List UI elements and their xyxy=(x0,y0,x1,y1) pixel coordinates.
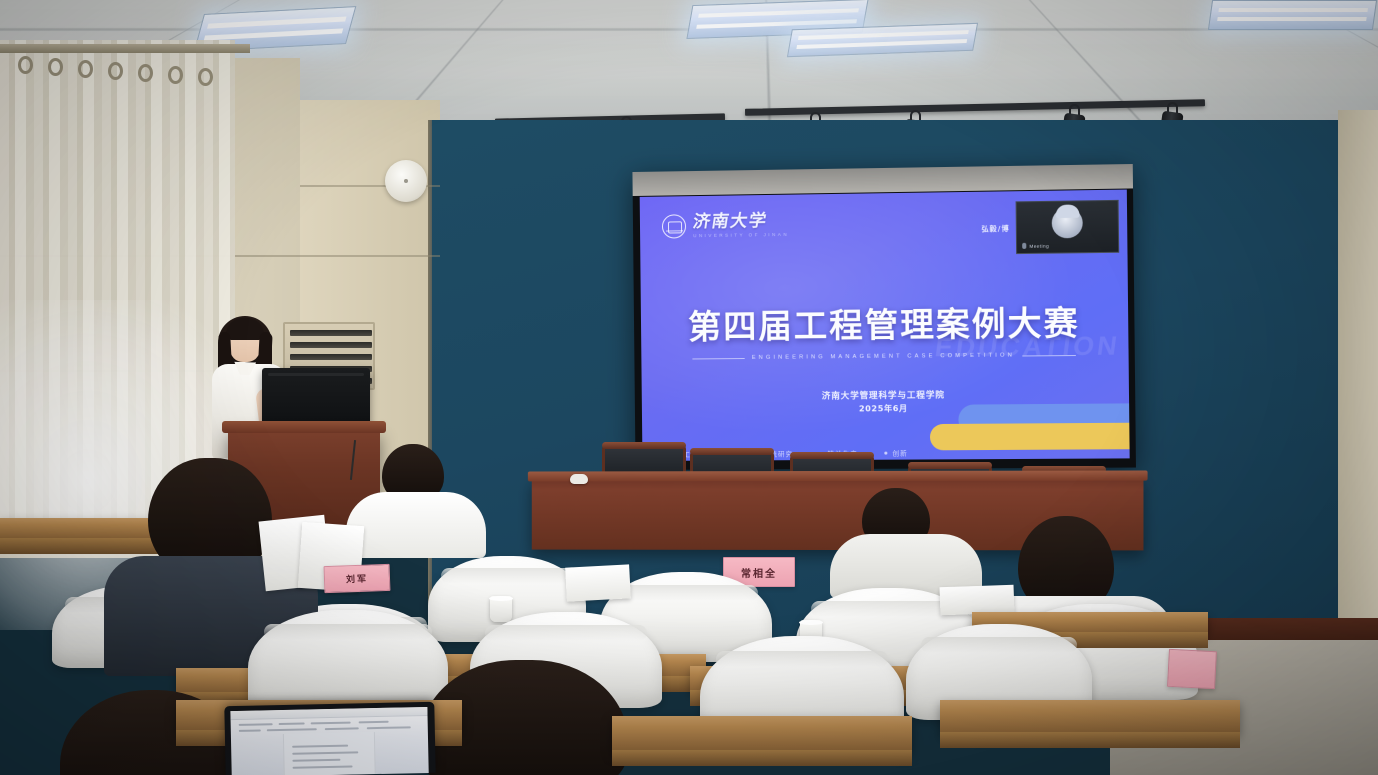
paper-cup xyxy=(490,596,512,622)
video-call-name-row: Meeting xyxy=(1022,243,1049,249)
judges-table-surface xyxy=(528,470,1148,481)
university-logo: 济南大学 UNIVERSITY OF JINAN xyxy=(662,213,789,239)
laptop-screen xyxy=(230,707,428,775)
name-placard: 刘军 xyxy=(324,564,391,593)
paper-stack xyxy=(940,585,1015,616)
seat-cover xyxy=(248,610,448,710)
avatar xyxy=(1052,208,1083,239)
microphone-icon xyxy=(1022,243,1026,249)
slide-title-block: 第四届工程管理案例大赛 ENGINEERING MANAGEMENT CASE … xyxy=(641,295,1129,361)
projection-screen: 济南大学 UNIVERSITY OF JINAN 弘毅/博 Meeting ED… xyxy=(632,164,1136,470)
university-seal-icon xyxy=(662,215,686,239)
name-placard-text: 常相全 xyxy=(741,565,777,580)
presenter-hair-front xyxy=(226,318,264,340)
laptop-document-pane xyxy=(283,732,376,775)
podium-top-surface xyxy=(222,421,386,433)
laptop-app-toolbar xyxy=(230,707,427,720)
video-call-window[interactable]: Meeting xyxy=(1016,200,1120,254)
university-name-cn: 济南大学 xyxy=(692,213,790,231)
slide-title-cn: 第四届工程管理案例大赛 xyxy=(641,295,1129,348)
laptop[interactable] xyxy=(224,702,435,775)
slide-footer-item: 创新 xyxy=(884,447,908,457)
wall-right-beige xyxy=(1338,110,1378,630)
desk xyxy=(612,716,912,752)
rule-right xyxy=(1022,354,1076,356)
lecture-hall-scene: 济南大学 UNIVERSITY OF JINAN 弘毅/博 Meeting ED… xyxy=(0,0,1378,775)
desk xyxy=(940,700,1240,734)
video-call-participant-name: Meeting xyxy=(1029,243,1049,248)
computer-mouse[interactable] xyxy=(570,474,588,484)
bullet-icon xyxy=(884,451,887,454)
curtain-hooks xyxy=(0,52,250,78)
slide-subtitle-row: ENGINEERING MANAGEMENT CASE COMPETITION xyxy=(641,351,1128,361)
slide-footer-label: 创新 xyxy=(892,447,907,457)
name-placard xyxy=(1167,649,1217,689)
audience-shoulders xyxy=(346,492,486,558)
slide-organizer: 济南大学管理科学与工程学院 xyxy=(642,387,1129,403)
paper-stack xyxy=(565,564,631,601)
smoke-detector-icon xyxy=(385,160,427,202)
rule-left xyxy=(693,357,745,358)
university-name-en: UNIVERSITY OF JINAN xyxy=(693,233,789,239)
name-placard-text: 刘军 xyxy=(346,572,368,586)
ceiling-panel-light xyxy=(1208,0,1377,30)
video-call-side-label: 弘毅/博 xyxy=(981,224,1009,235)
slide-title-en: ENGINEERING MANAGEMENT CASE COMPETITION xyxy=(752,353,1015,361)
presentation-slide: 济南大学 UNIVERSITY OF JINAN 弘毅/博 Meeting ED… xyxy=(640,190,1130,461)
